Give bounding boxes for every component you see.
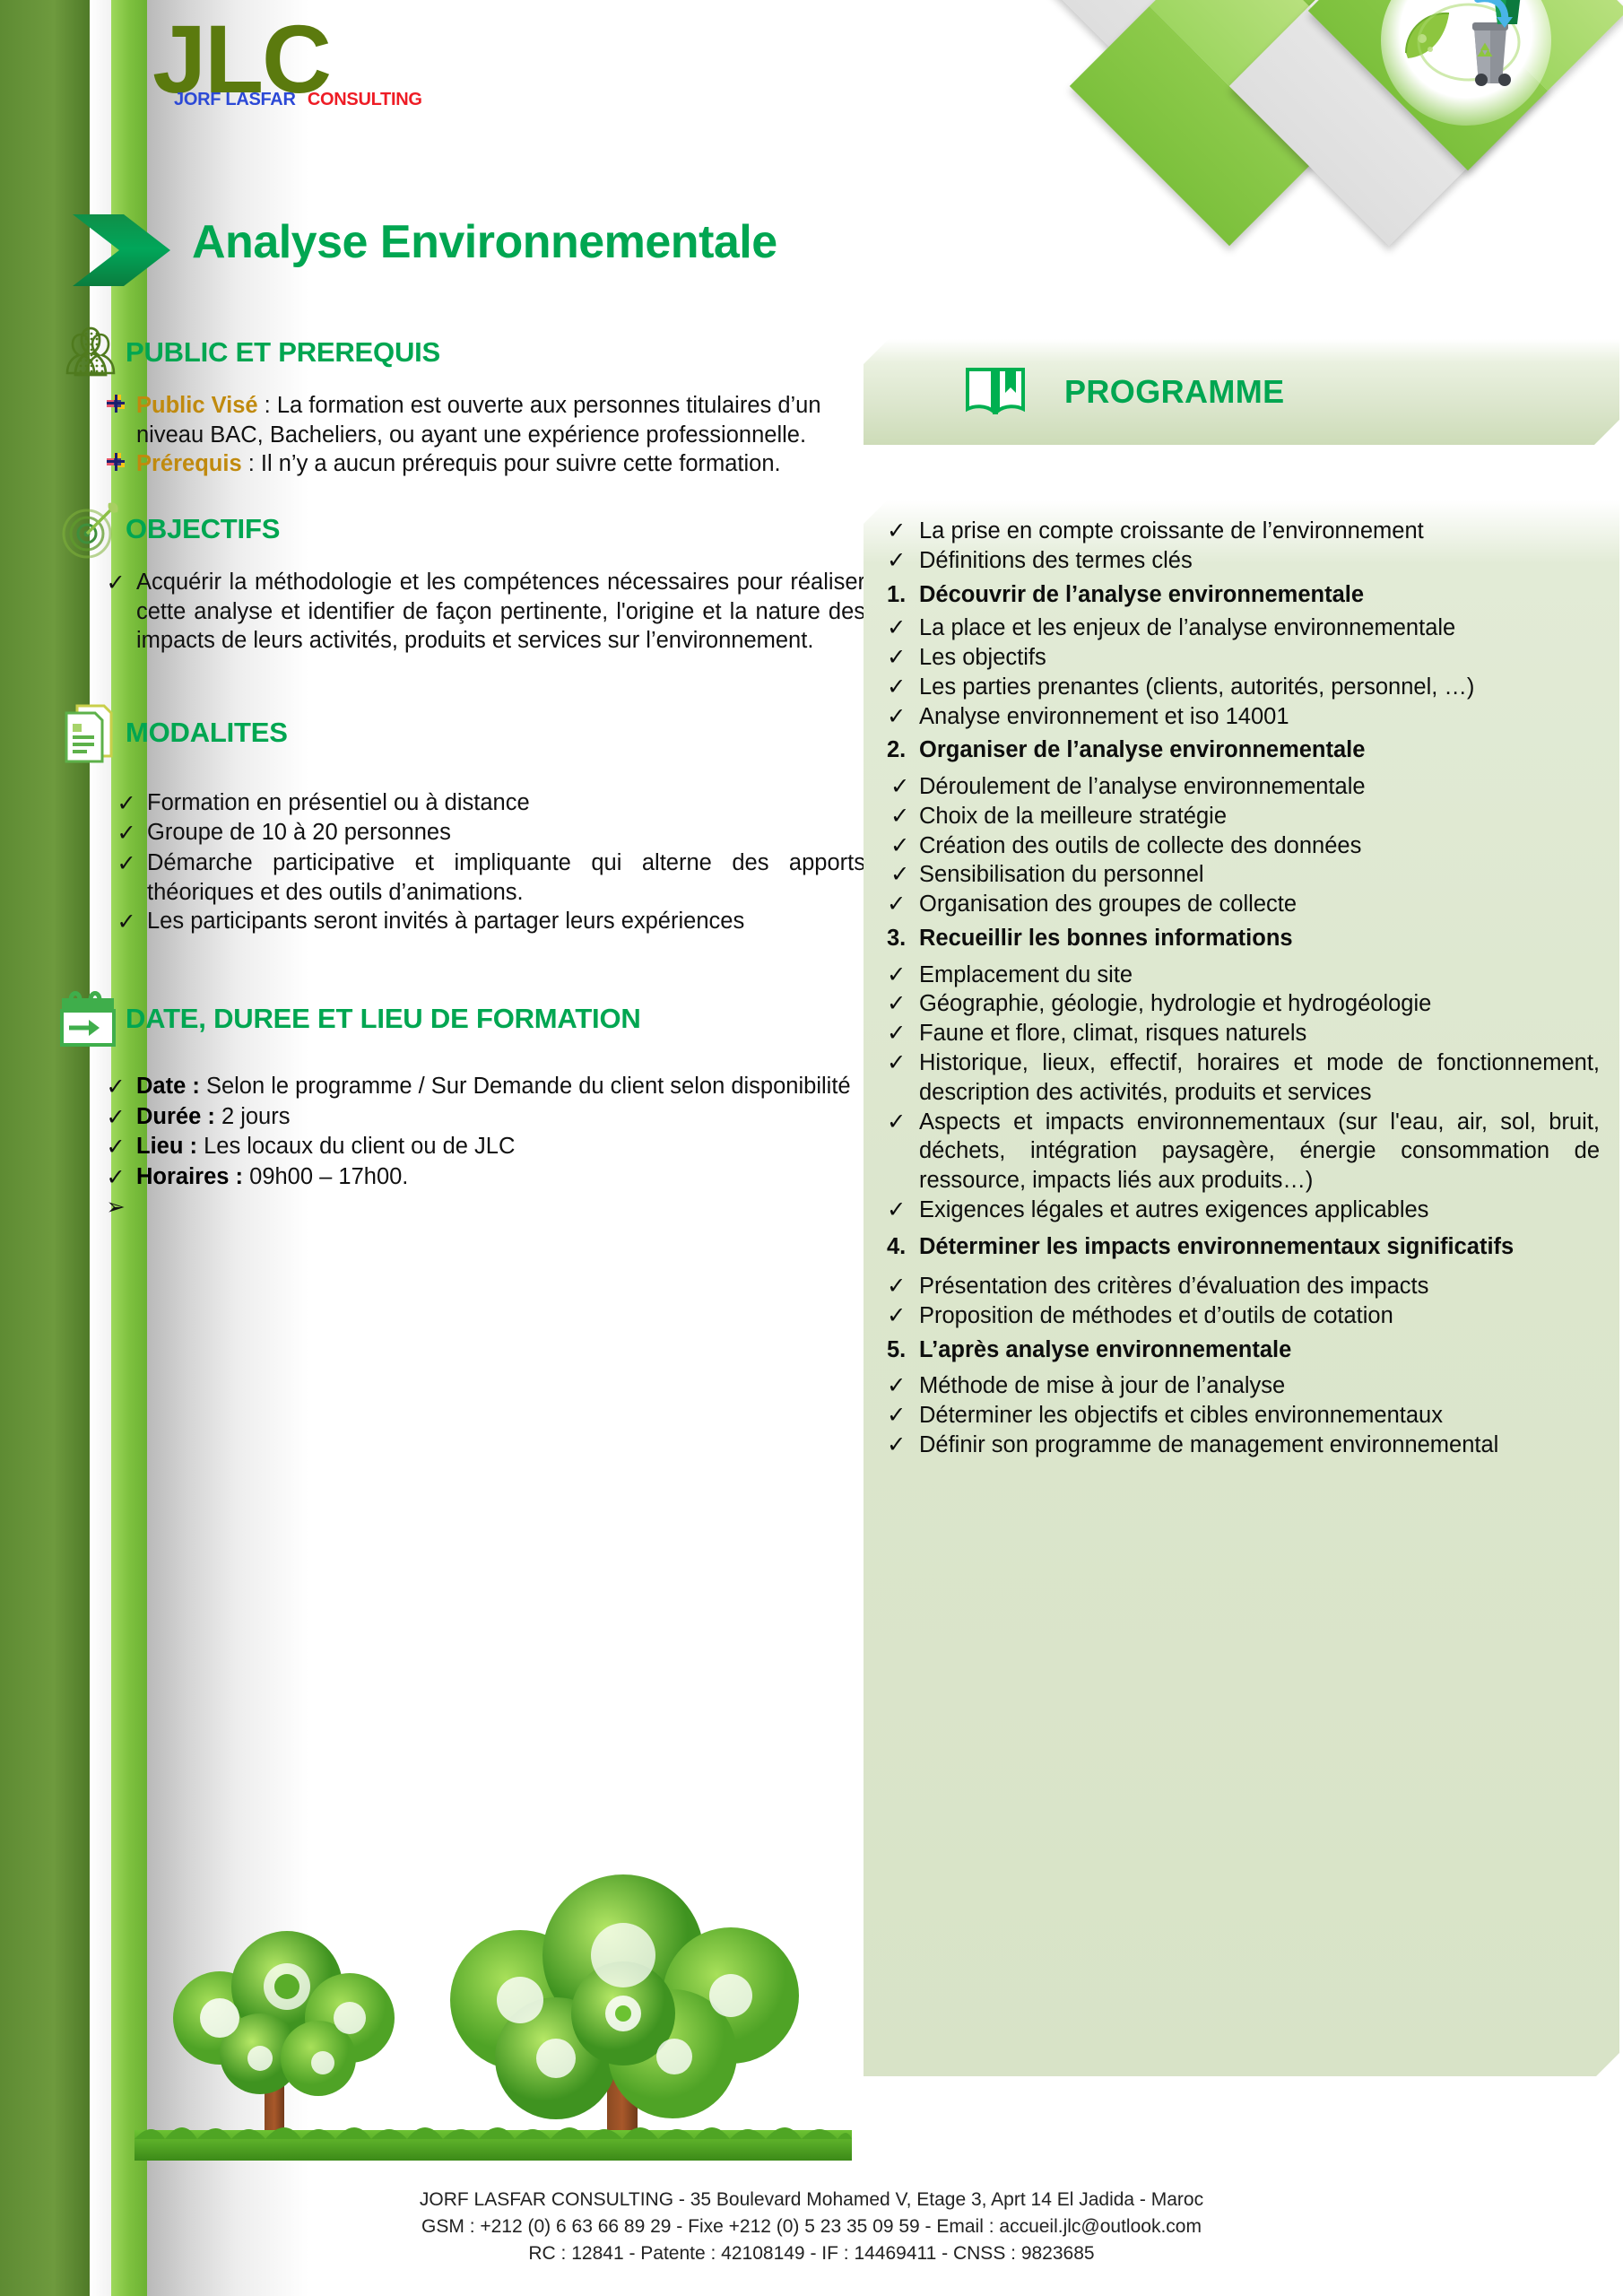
- logo: JLC JORF LASFAR CONSULTING: [152, 13, 422, 110]
- programme-item: ✓Déterminer les objectifs et cibles envi…: [880, 1401, 1600, 1431]
- check-icon: ✓: [106, 818, 147, 848]
- programme-item-text: Géographie, géologie, hydrologie et hydr…: [919, 989, 1600, 1019]
- check-icon: ✓: [95, 1162, 136, 1193]
- programme-section-text: Organiser de l’analyse environnementale: [919, 735, 1600, 765]
- cross-bullet-icon: [95, 449, 136, 480]
- programme-item: ✓Choix de la meilleure stratégie: [880, 802, 1600, 831]
- programme-item: ✓Sensibilisation du personnel: [880, 860, 1600, 890]
- gear-trees-illustration: [135, 1834, 852, 2166]
- page-title: Analyse Environnementale: [192, 215, 777, 269]
- list-item: ✓ Les participants seront invités à part…: [106, 907, 865, 937]
- list-item-text: Date : Selon le programme / Sur Demande …: [136, 1072, 865, 1101]
- list-item-text: Public Visé : La formation est ouverte a…: [136, 391, 865, 449]
- programme-item-text: Faune et flore, climat, risques naturels: [919, 1019, 1600, 1048]
- programme-item-text: Proposition de méthodes et d’outils de c…: [919, 1301, 1600, 1331]
- programme-item: ✓Historique, lieux, effectif, horaires e…: [880, 1048, 1600, 1108]
- footer-line-contact: GSM : +212 (0) 6 63 66 89 29 - Fixe +212…: [0, 2213, 1623, 2240]
- list-item: Public Visé : La formation est ouverte a…: [95, 391, 865, 449]
- section-header-objectifs: OBJECTIFS: [54, 500, 865, 559]
- programme-item-text: Analyse environnement et iso 14001: [919, 702, 1600, 732]
- list-item: ✓ Acquérir la méthodologie et les compét…: [95, 568, 865, 656]
- list-item: ✓ Date : Selon le programme / Sur Demand…: [95, 1072, 865, 1102]
- cross-bullet-icon: [95, 391, 136, 422]
- programme-section-text: Déterminer les impacts environnementaux …: [919, 1230, 1600, 1265]
- chevron-icon: [70, 212, 176, 289]
- check-icon: ✓: [880, 1301, 919, 1331]
- check-icon: ✓: [95, 568, 136, 598]
- check-icon: ✓: [880, 1371, 919, 1401]
- check-icon: ✓: [106, 907, 147, 937]
- programme-number: 1.: [880, 580, 919, 610]
- programme-item-text: Emplacement du site: [919, 961, 1600, 990]
- logo-subtitle: JORF LASFAR CONSULTING: [174, 90, 422, 110]
- check-icon: ✓: [880, 613, 919, 643]
- section-header-public: PUBLIC ET PREREQUIS: [54, 323, 865, 382]
- check-icon: ✓: [106, 788, 147, 819]
- list-item-text: Acquérir la méthodologie et les compéten…: [136, 568, 865, 656]
- decorative-diamonds: [973, 0, 1623, 260]
- programme-section: 3.Recueillir les bonnes informations: [880, 924, 1600, 953]
- calendar-arrow-icon: [54, 987, 126, 1050]
- check-icon: ✓: [880, 673, 919, 702]
- programme-item: ✓Les objectifs: [880, 643, 1600, 673]
- item-label: Durée :: [136, 1104, 215, 1129]
- check-icon: ✓: [880, 802, 919, 831]
- people-icon: [54, 326, 126, 378]
- programme-section-text: L’après analyse environnementale: [919, 1335, 1600, 1365]
- programme-title: PROGRAMME: [1064, 373, 1285, 411]
- item-label: Lieu :: [136, 1134, 197, 1159]
- programme-section-text: Découvrir de l’analyse environnementale: [919, 580, 1600, 610]
- open-book-icon: [966, 364, 1025, 421]
- programme-section: 4.Déterminer les impacts environnementau…: [880, 1230, 1600, 1265]
- programme-item-text: Historique, lieux, effectif, horaires et…: [919, 1048, 1600, 1108]
- list-item-text: Lieu : Les locaux du client ou de JLC: [136, 1132, 865, 1161]
- programme-item-text: Méthode de mise à jour de l’analyse: [919, 1371, 1600, 1401]
- programme-item: ✓Géographie, géologie, hydrologie et hyd…: [880, 989, 1600, 1019]
- list-item: ✓ Lieu : Les locaux du client ou de JLC: [95, 1132, 865, 1162]
- programme-item-text: Sensibilisation du personnel: [919, 860, 1600, 890]
- item-body: 09h00 – 17h00.: [243, 1164, 408, 1189]
- list-item-text: Prérequis : Il n’y a aucun prérequis pou…: [136, 449, 865, 479]
- check-icon: ✓: [95, 1072, 136, 1102]
- check-icon: ✓: [106, 848, 147, 879]
- programme-item: ✓Analyse environnement et iso 14001: [880, 702, 1600, 732]
- list-item-text: Durée : 2 jours: [136, 1102, 865, 1132]
- list-item: ➢: [95, 1192, 865, 1222]
- programme-item-text: Les objectifs: [919, 643, 1600, 673]
- check-icon: ✓: [880, 643, 919, 673]
- programme-item: ✓La prise en compte croissante de l’envi…: [880, 517, 1600, 546]
- item-label: Date :: [136, 1074, 200, 1099]
- programme-item-text: Définitions des termes clés: [919, 546, 1600, 576]
- programme-item-text: Exigences légales et autres exigences ap…: [919, 1196, 1600, 1225]
- left-column: PUBLIC ET PREREQUIS Public Visé : La for…: [54, 323, 865, 1222]
- programme-item: ✓Proposition de méthodes et d’outils de …: [880, 1301, 1600, 1331]
- footer: JORF LASFAR CONSULTING - 35 Boulevard Mo…: [0, 2187, 1623, 2266]
- list-item-text: Formation en présentiel ou à distance: [147, 788, 865, 818]
- check-icon: ✓: [880, 1431, 919, 1460]
- programme-item: ✓Organisation des groupes de collecte: [880, 890, 1600, 919]
- programme-item-text: Définir son programme de management envi…: [919, 1431, 1600, 1460]
- check-icon: ✓: [880, 860, 919, 890]
- check-icon: ✓: [880, 989, 919, 1019]
- document-icon: [54, 700, 126, 765]
- list-item: Prérequis : Il n’y a aucun prérequis pou…: [95, 449, 865, 480]
- list-item: ✓ Groupe de 10 à 20 personnes: [106, 818, 865, 848]
- target-icon: [54, 500, 126, 559]
- programme-item: ✓Déroulement de l’analyse environnementa…: [880, 772, 1600, 802]
- programme-item-text: Choix de la meilleure stratégie: [919, 802, 1600, 831]
- check-icon: ✓: [880, 517, 919, 546]
- section-header-modalites: MODALITES: [54, 700, 865, 765]
- programme-item: ✓Définitions des termes clés: [880, 546, 1600, 576]
- programme-item: ✓Définir son programme de management env…: [880, 1431, 1600, 1460]
- date-list: ✓ Date : Selon le programme / Sur Demand…: [95, 1072, 865, 1222]
- programme-section: 2.Organiser de l’analyse environnemental…: [880, 735, 1600, 765]
- programme-item-text: Création des outils de collecte des donn…: [919, 831, 1600, 861]
- list-item-text: Horaires : 09h00 – 17h00.: [136, 1162, 865, 1192]
- check-icon: ✓: [880, 772, 919, 802]
- check-icon: ✓: [95, 1132, 136, 1162]
- list-item: ✓ Horaires : 09h00 – 17h00.: [95, 1162, 865, 1193]
- section-title-date: DATE, DUREE ET LIEU DE FORMATION: [126, 1003, 641, 1035]
- recycle-bin-icon: [1399, 0, 1533, 94]
- programme-item-text: Présentation des critères d’évaluation d…: [919, 1272, 1600, 1301]
- item-body: Il n’y a aucun prérequis pour suivre cet…: [261, 451, 781, 476]
- item-sep: :: [242, 451, 261, 476]
- footer-line-legal: RC : 12841 - Patente : 42108149 - IF : 1…: [0, 2240, 1623, 2267]
- list-item-text: Groupe de 10 à 20 personnes: [147, 818, 865, 848]
- public-list: Public Visé : La formation est ouverte a…: [95, 391, 865, 480]
- programme-header: PROGRAMME: [864, 339, 1619, 445]
- check-icon: ✓: [880, 1196, 919, 1225]
- programme-item: ✓Présentation des critères d’évaluation …: [880, 1272, 1600, 1301]
- programme-section: 5.L’après analyse environnementale: [880, 1335, 1600, 1365]
- programme-item: ✓Emplacement du site: [880, 961, 1600, 990]
- objectifs-list: ✓ Acquérir la méthodologie et les compét…: [95, 568, 865, 656]
- programme-item-text: La prise en compte croissante de l’envir…: [919, 517, 1600, 546]
- check-icon: ✓: [880, 890, 919, 919]
- section-title-modalites: MODALITES: [126, 717, 288, 749]
- programme-item-text: Aspects et impacts environnementaux (sur…: [919, 1108, 1600, 1196]
- logo-sub-blue: JORF LASFAR: [174, 90, 296, 109]
- check-icon: ✓: [95, 1102, 136, 1133]
- item-sep: :: [258, 393, 277, 418]
- programme-item-text: Les parties prenantes (clients, autorité…: [919, 673, 1600, 702]
- programme-box: ✓La prise en compte croissante de l’envi…: [864, 500, 1619, 2076]
- programme-item: ✓Méthode de mise à jour de l’analyse: [880, 1371, 1600, 1401]
- item-body: Selon le programme / Sur Demande du clie…: [200, 1074, 851, 1099]
- item-label: Horaires :: [136, 1164, 243, 1189]
- programme-item: ✓Exigences légales et autres exigences a…: [880, 1196, 1600, 1225]
- programme-number: 5.: [880, 1335, 919, 1365]
- list-item-text: Démarche participative et impliquante qu…: [147, 848, 865, 907]
- check-icon: ✓: [880, 1401, 919, 1431]
- list-item: ✓ Démarche participative et impliquante …: [106, 848, 865, 907]
- logo-sub-red: CONSULTING: [308, 90, 422, 109]
- check-icon: ✓: [880, 546, 919, 576]
- check-icon: ✓: [880, 1272, 919, 1301]
- check-icon: ✓: [880, 1108, 919, 1137]
- programme-item-text: La place et les enjeux de l’analyse envi…: [919, 613, 1600, 643]
- list-item: ✓ Formation en présentiel ou à distance: [106, 788, 865, 819]
- arrow-bullet-icon: ➢: [95, 1192, 136, 1222]
- programme-item-text: Déterminer les objectifs et cibles envir…: [919, 1401, 1600, 1431]
- footer-line-address: JORF LASFAR CONSULTING - 35 Boulevard Mo…: [0, 2187, 1623, 2213]
- programme-item: ✓Aspects et impacts environnementaux (su…: [880, 1108, 1600, 1196]
- section-title-public: PUBLIC ET PREREQUIS: [126, 336, 440, 369]
- list-item: ✓ Durée : 2 jours: [95, 1102, 865, 1133]
- section-title-objectifs: OBJECTIFS: [126, 513, 280, 545]
- programme-item-text: Organisation des groupes de collecte: [919, 890, 1600, 919]
- programme-number: 2.: [880, 735, 919, 765]
- item-body: 2 jours: [215, 1104, 291, 1129]
- programme-section-text: Recueillir les bonnes informations: [919, 924, 1600, 953]
- item-label: Public Visé: [136, 393, 258, 418]
- check-icon: ✓: [880, 1048, 919, 1078]
- programme-number: 4.: [880, 1230, 919, 1265]
- programme-item: ✓Faune et flore, climat, risques naturel…: [880, 1019, 1600, 1048]
- check-icon: ✓: [880, 831, 919, 861]
- programme-section: 1.Découvrir de l’analyse environnemental…: [880, 580, 1600, 610]
- programme-item: ✓Création des outils de collecte des don…: [880, 831, 1600, 861]
- programme-item: ✓Les parties prenantes (clients, autorit…: [880, 673, 1600, 702]
- item-body: Les locaux du client ou de JLC: [197, 1134, 515, 1159]
- check-icon: ✓: [880, 702, 919, 732]
- list-item-text: Les participants seront invités à partag…: [147, 907, 865, 936]
- item-label: Prérequis: [136, 451, 242, 476]
- programme-item: ✓La place et les enjeux de l’analyse env…: [880, 613, 1600, 643]
- check-icon: ✓: [880, 961, 919, 990]
- check-icon: ✓: [880, 1019, 919, 1048]
- programme-item-text: Déroulement de l’analyse environnemental…: [919, 772, 1600, 802]
- programme-number: 3.: [880, 924, 919, 953]
- modalites-list: ✓ Formation en présentiel ou à distance …: [106, 788, 865, 937]
- section-header-date: DATE, DUREE ET LIEU DE FORMATION: [54, 987, 865, 1050]
